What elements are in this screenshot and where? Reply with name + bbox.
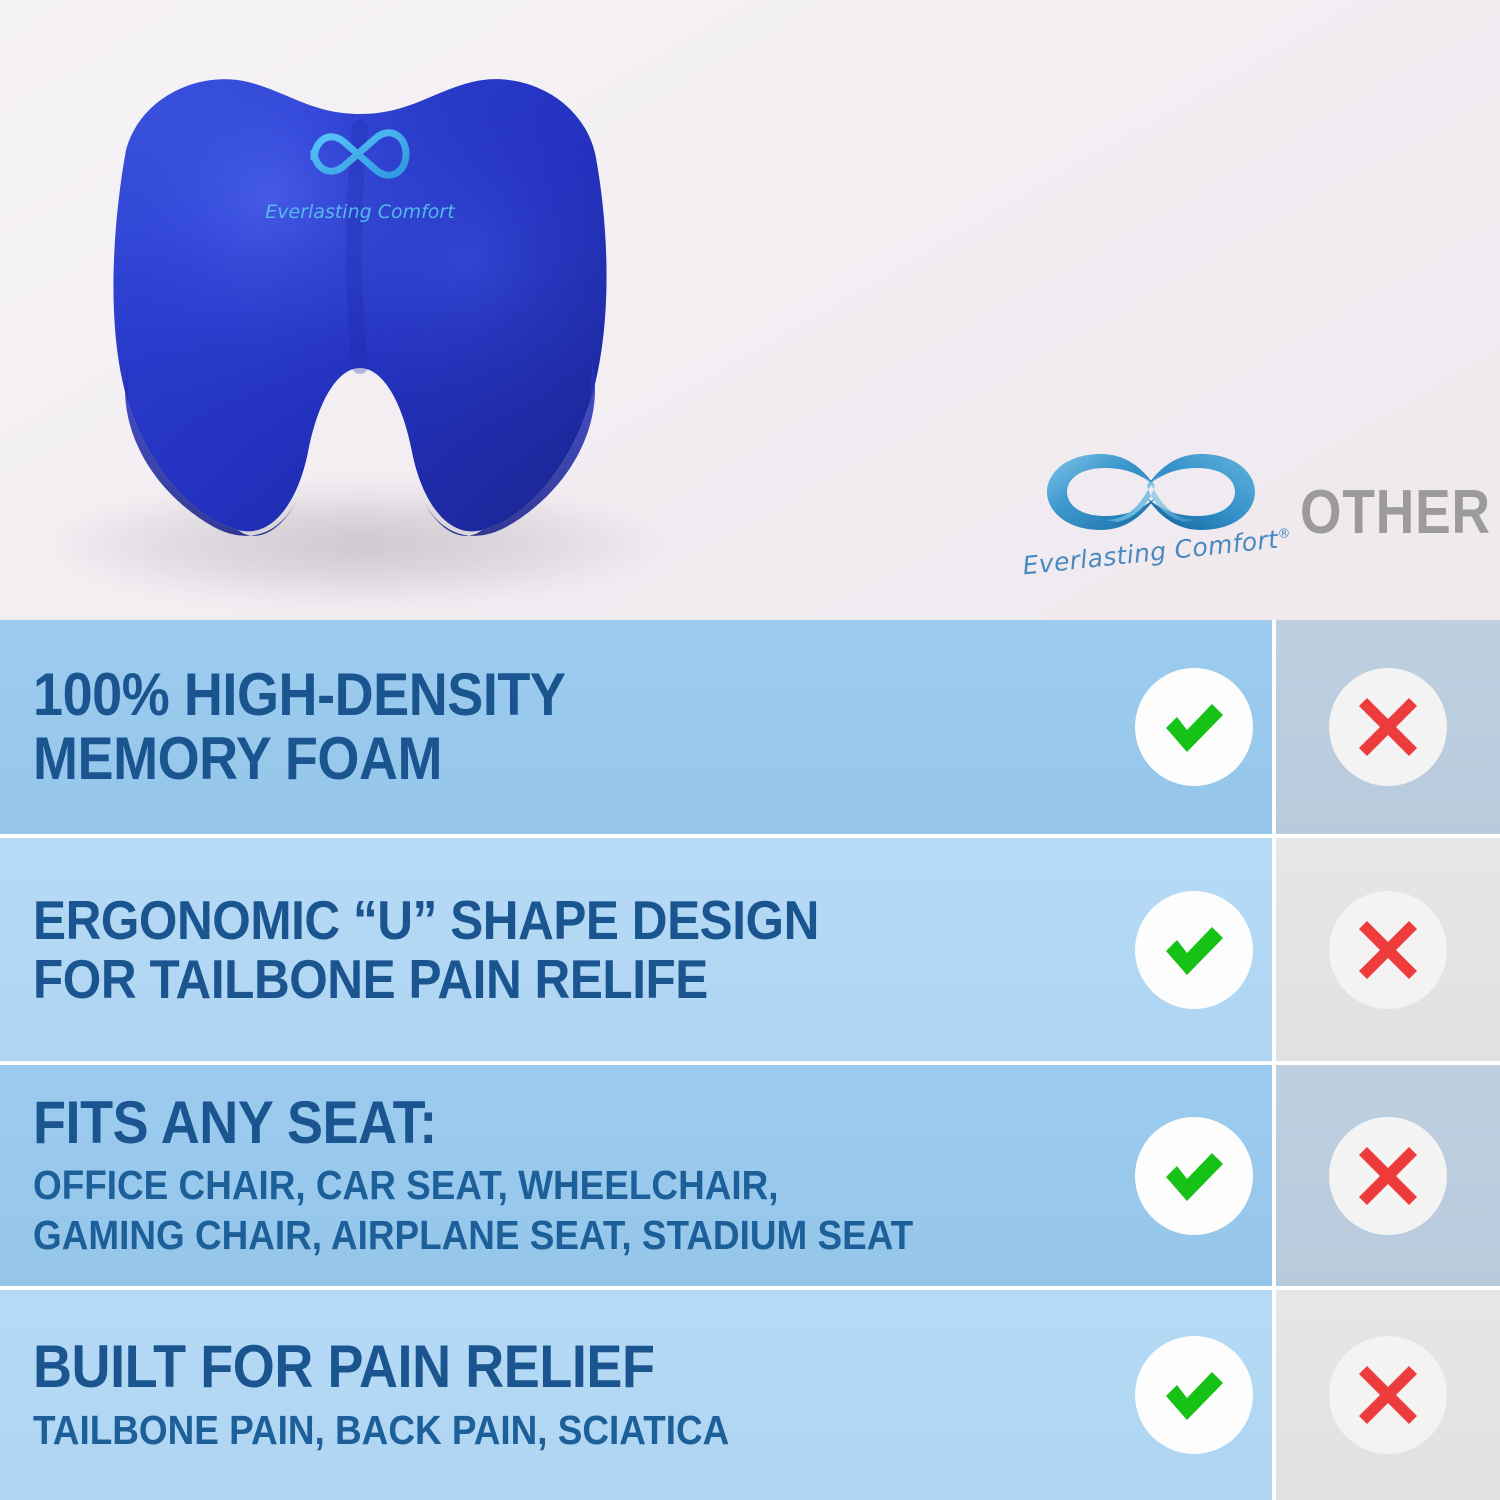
hero-section: Everlasting Comfort bbox=[0, 0, 1500, 620]
brand-logo-header: Everlasting Comfort® bbox=[1022, 440, 1280, 595]
table-row: ERGONOMIC “U” SHAPE DESIGN FOR TAILBONE … bbox=[0, 838, 1500, 1065]
product-comparison-infographic: Everlasting Comfort bbox=[0, 0, 1500, 1500]
product-image: Everlasting Comfort bbox=[8, 14, 708, 604]
other-cell bbox=[1276, 1290, 1500, 1500]
red-cross-icon bbox=[1329, 891, 1447, 1009]
comparison-table: 100% HIGH-DENSITY MEMORY FOAM bbox=[0, 620, 1500, 1500]
ours-cell bbox=[1115, 1290, 1276, 1500]
table-row: FITS ANY SEAT: OFFICE CHAIR, CAR SEAT, W… bbox=[0, 1065, 1500, 1290]
feature-subtitle: OFFICE CHAIR, CAR SEAT, WHEELCHAIR, GAMI… bbox=[33, 1160, 1007, 1260]
feature-title: ERGONOMIC “U” SHAPE DESIGN FOR TAILBONE … bbox=[33, 891, 1007, 1008]
table-row: BUILT FOR PAIN RELIEF TAILBONE PAIN, BAC… bbox=[0, 1290, 1500, 1500]
green-check-icon bbox=[1135, 1117, 1253, 1235]
ours-cell bbox=[1115, 1065, 1276, 1286]
feature-title: 100% HIGH-DENSITY MEMORY FOAM bbox=[33, 663, 1007, 790]
ours-cell bbox=[1115, 620, 1276, 834]
green-check-icon bbox=[1135, 891, 1253, 1009]
feature-title: BUILT FOR PAIN RELIEF bbox=[33, 1335, 1007, 1399]
svg-text:Everlasting Comfort: Everlasting Comfort bbox=[265, 201, 456, 223]
infinity-logo-icon bbox=[1043, 440, 1259, 544]
ours-cell bbox=[1115, 838, 1276, 1061]
feature-cell: FITS ANY SEAT: OFFICE CHAIR, CAR SEAT, W… bbox=[0, 1065, 1115, 1286]
red-cross-icon bbox=[1329, 668, 1447, 786]
green-check-icon bbox=[1135, 668, 1253, 786]
feature-cell: BUILT FOR PAIN RELIEF TAILBONE PAIN, BAC… bbox=[0, 1290, 1115, 1500]
red-cross-icon bbox=[1329, 1117, 1447, 1235]
feature-subtitle: TAILBONE PAIN, BACK PAIN, SCIATICA bbox=[33, 1405, 1007, 1455]
other-column-label: OTHER bbox=[1300, 482, 1463, 544]
feature-cell: 100% HIGH-DENSITY MEMORY FOAM bbox=[0, 620, 1115, 834]
other-cell bbox=[1276, 620, 1500, 834]
other-cell bbox=[1276, 1065, 1500, 1286]
red-cross-icon bbox=[1329, 1336, 1447, 1454]
feature-title: FITS ANY SEAT: bbox=[33, 1091, 1007, 1155]
green-check-icon bbox=[1135, 1336, 1253, 1454]
feature-cell: ERGONOMIC “U” SHAPE DESIGN FOR TAILBONE … bbox=[0, 838, 1115, 1061]
other-cell bbox=[1276, 838, 1500, 1061]
seat-cushion-illustration: Everlasting Comfort bbox=[30, 32, 690, 577]
table-row: 100% HIGH-DENSITY MEMORY FOAM bbox=[0, 620, 1500, 838]
